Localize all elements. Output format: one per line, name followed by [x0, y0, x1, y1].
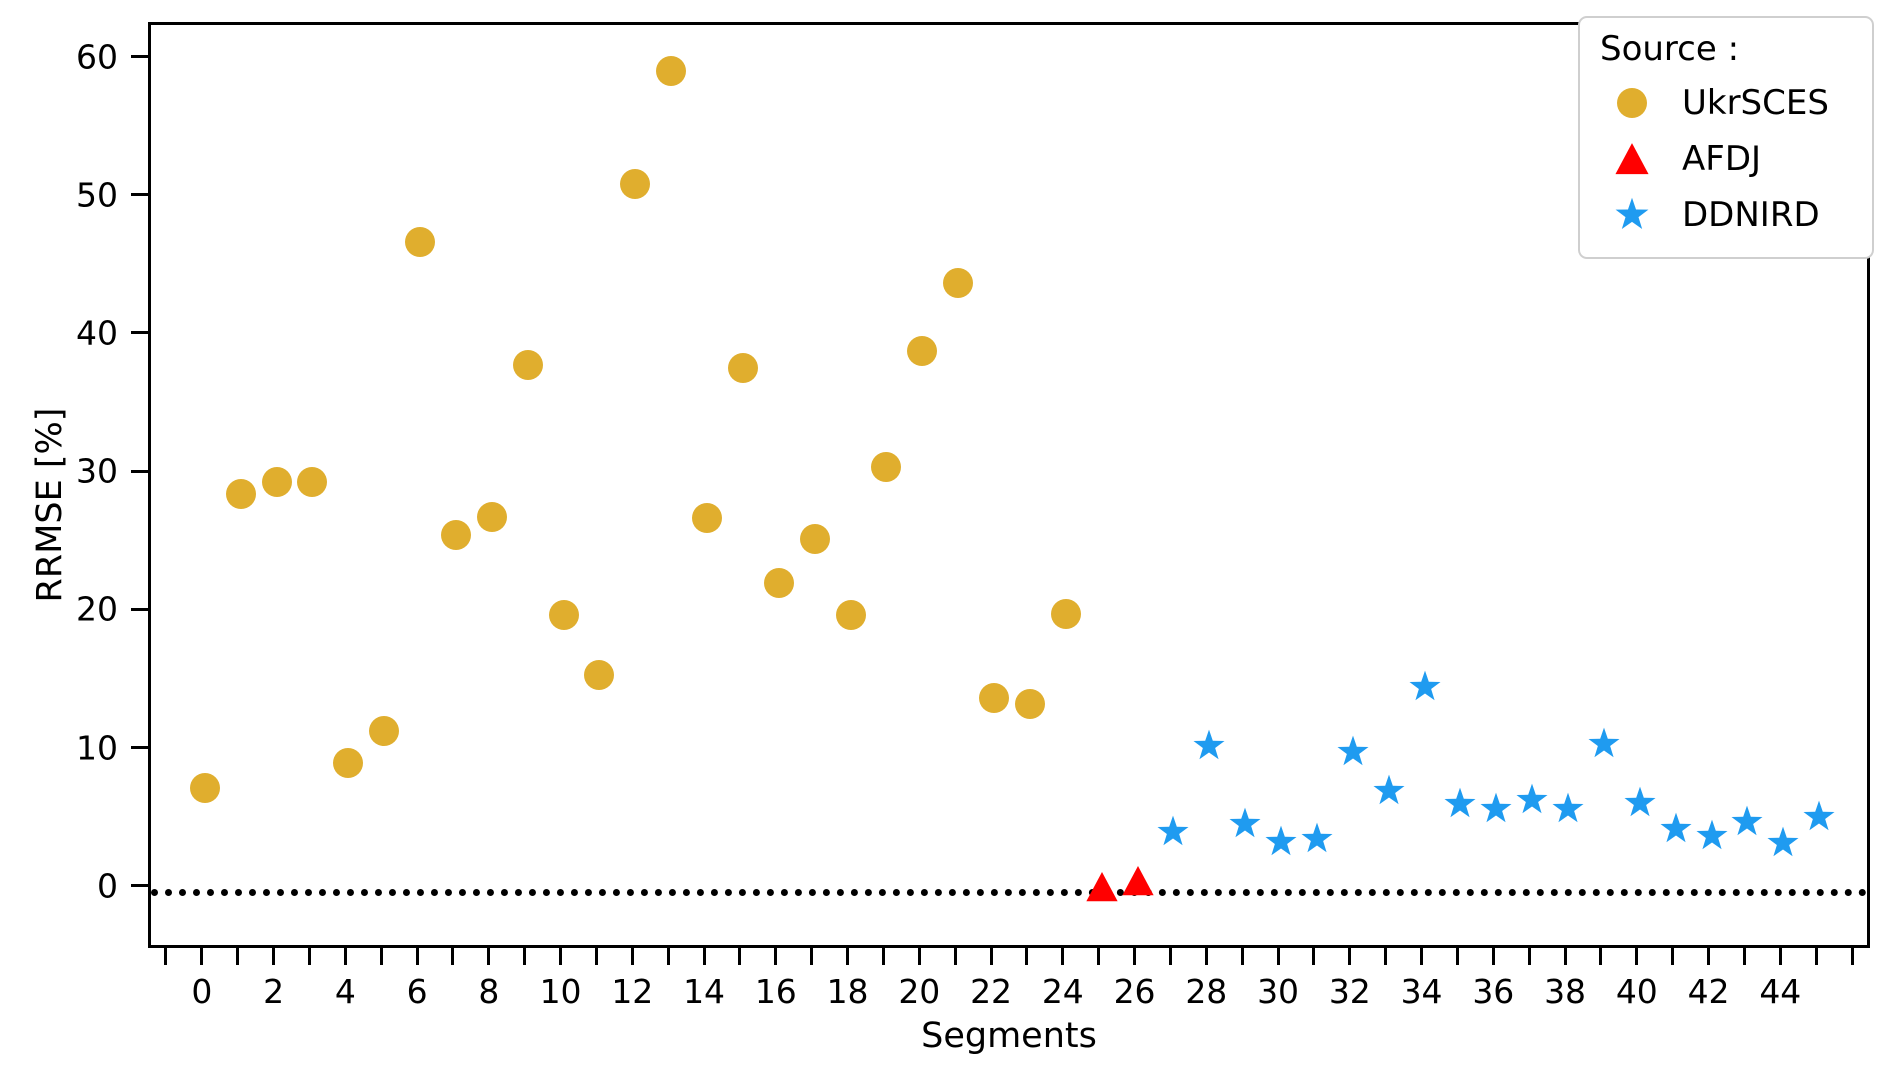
x-tick-label-16: 16	[755, 972, 797, 1011]
x-tick-26	[1133, 948, 1136, 965]
y-tick-label-10: 10	[3, 728, 118, 767]
x-tick-label-8: 8	[478, 972, 499, 1011]
data-point-ddnird	[1659, 812, 1693, 846]
x-tick-label-28: 28	[1185, 972, 1227, 1011]
data-point-ddnird	[1551, 792, 1585, 826]
x-tick-19	[882, 948, 885, 965]
data-point-ukrsces	[692, 503, 722, 533]
x-tick-13	[667, 948, 670, 965]
data-point-ddnird	[1802, 800, 1836, 834]
data-point-ddnird	[1730, 805, 1764, 839]
x-tick-41	[1671, 948, 1674, 965]
x-tick-label-34: 34	[1401, 972, 1443, 1011]
x-tick-label-26: 26	[1114, 972, 1156, 1011]
y-tick-20	[131, 608, 148, 611]
data-point-afdj	[1121, 864, 1155, 898]
data-point-ukrsces	[728, 353, 758, 383]
x-tick-0	[200, 948, 203, 965]
x-tick-label-22: 22	[970, 972, 1012, 1011]
x-tick-35	[1456, 948, 1459, 965]
x-tick-2	[272, 948, 275, 965]
data-point-ddnird	[1192, 729, 1226, 763]
x-tick-23	[1025, 948, 1028, 965]
x-tick-5	[380, 948, 383, 965]
x-tick-20	[918, 948, 921, 965]
y-tick-label-60: 60	[3, 37, 118, 76]
x-tick-43	[1743, 948, 1746, 965]
x-tick-7	[451, 948, 454, 965]
x-tick-24	[1061, 948, 1064, 965]
data-point-ddnird	[1264, 825, 1298, 859]
data-point-ddnird	[1408, 670, 1442, 704]
scatter-plot-figure: 0246810121416182022242628303234363840424…	[0, 0, 1892, 1084]
y-tick-10	[131, 746, 148, 749]
data-point-ddnird	[1156, 815, 1190, 849]
data-point-ddnird	[1443, 787, 1477, 821]
y-tick-40	[131, 331, 148, 334]
x-tick-39	[1599, 948, 1602, 965]
y-axis-label: RRMSE [%]	[30, 305, 70, 705]
data-point-ddnird	[1515, 783, 1549, 817]
x-tick-label-6: 6	[407, 972, 428, 1011]
x-tick-27	[1169, 948, 1172, 965]
x-tick-42	[1707, 948, 1710, 965]
star-icon	[1600, 197, 1664, 233]
data-point-ukrsces	[262, 467, 292, 497]
legend-entry-afdj[interactable]: AFDJ	[1600, 131, 1856, 187]
legend-title: Source :	[1600, 30, 1856, 69]
data-point-ukrsces	[297, 467, 327, 497]
x-tick-label-14: 14	[683, 972, 725, 1011]
x-tick-22	[990, 948, 993, 965]
y-tick-30	[131, 470, 148, 473]
x-tick-33	[1384, 948, 1387, 965]
x-tick-45	[1815, 948, 1818, 965]
x-tick-40	[1635, 948, 1638, 965]
legend-entries: UkrSCESAFDJDDNIRD	[1600, 75, 1856, 243]
data-point-ukrsces	[620, 169, 650, 199]
x-tick-46	[1851, 948, 1854, 965]
x-tick-label-40: 40	[1616, 972, 1658, 1011]
x-tick-9	[523, 948, 526, 965]
data-point-ukrsces	[836, 600, 866, 630]
data-point-ukrsces	[405, 227, 435, 257]
x-tick-34	[1420, 948, 1423, 965]
data-point-ddnird	[1300, 822, 1334, 856]
x-tick-label-2: 2	[263, 972, 284, 1011]
data-point-ukrsces	[477, 502, 507, 532]
x-tick-6	[416, 948, 419, 965]
x-tick-36	[1492, 948, 1495, 965]
circle-icon	[1600, 88, 1664, 118]
x-tick-29	[1241, 948, 1244, 965]
x-tick-30	[1277, 948, 1280, 965]
x-tick-label-24: 24	[1042, 972, 1084, 1011]
data-point-ukrsces	[871, 452, 901, 482]
data-point-ukrsces	[513, 350, 543, 380]
x-tick-label-32: 32	[1329, 972, 1371, 1011]
data-point-ukrsces	[226, 479, 256, 509]
x-tick-label-18: 18	[827, 972, 869, 1011]
data-point-ddnird	[1623, 786, 1657, 820]
x-tick-8	[487, 948, 490, 965]
legend-label: DDNIRD	[1664, 198, 1820, 232]
data-point-ukrsces	[333, 748, 363, 778]
y-tick-50	[131, 193, 148, 196]
x-tick-17	[810, 948, 813, 965]
x-tick-31	[1312, 948, 1315, 965]
data-point-afdj	[1085, 870, 1119, 904]
x-tick-16	[774, 948, 777, 965]
x-tick-12	[631, 948, 634, 965]
x-tick--1	[164, 948, 167, 965]
x-tick-label-0: 0	[191, 972, 212, 1011]
x-tick-label-4: 4	[335, 972, 356, 1011]
x-tick-label-36: 36	[1472, 972, 1514, 1011]
legend-entry-ddnird[interactable]: DDNIRD	[1600, 187, 1856, 243]
x-tick-label-42: 42	[1688, 972, 1730, 1011]
data-point-ddnird	[1695, 819, 1729, 853]
y-tick-label-50: 50	[3, 175, 118, 214]
data-point-ukrsces	[190, 773, 220, 803]
x-tick-label-10: 10	[540, 972, 582, 1011]
data-point-ddnird	[1336, 735, 1370, 769]
data-point-ukrsces	[584, 660, 614, 690]
x-tick-37	[1528, 948, 1531, 965]
y-tick-0	[131, 884, 148, 887]
x-axis-label: Segments	[148, 1016, 1870, 1056]
x-tick-label-38: 38	[1544, 972, 1586, 1011]
data-point-ukrsces	[800, 524, 830, 554]
x-tick-label-20: 20	[898, 972, 940, 1011]
x-tick-4	[344, 948, 347, 965]
x-tick-label-12: 12	[611, 972, 653, 1011]
legend-label: AFDJ	[1664, 142, 1761, 176]
legend-label: UkrSCES	[1664, 86, 1829, 120]
data-point-ukrsces	[764, 568, 794, 598]
data-point-ukrsces	[979, 683, 1009, 713]
x-tick-28	[1205, 948, 1208, 965]
data-point-ddnird	[1479, 792, 1513, 826]
x-tick-38	[1564, 948, 1567, 965]
data-point-ukrsces	[1015, 689, 1045, 719]
x-tick-3	[308, 948, 311, 965]
legend-entry-ukrsces[interactable]: UkrSCES	[1600, 75, 1856, 131]
data-point-ukrsces	[656, 56, 686, 86]
legend: Source : UkrSCESAFDJDDNIRD	[1578, 16, 1874, 259]
data-point-ddnird	[1766, 826, 1800, 860]
x-tick-11	[595, 948, 598, 965]
x-tick-15	[738, 948, 741, 965]
x-tick-21	[954, 948, 957, 965]
data-point-ukrsces	[369, 716, 399, 746]
data-point-ukrsces	[1051, 599, 1081, 629]
x-tick-1	[236, 948, 239, 965]
data-point-ukrsces	[943, 268, 973, 298]
data-point-ddnird	[1372, 774, 1406, 808]
data-point-ukrsces	[907, 336, 937, 366]
x-tick-10	[559, 948, 562, 965]
x-tick-44	[1779, 948, 1782, 965]
x-tick-label-30: 30	[1257, 972, 1299, 1011]
x-tick-25	[1097, 948, 1100, 965]
y-tick-label-0: 0	[3, 866, 118, 905]
data-point-ddnird	[1228, 807, 1262, 841]
triangle-icon	[1600, 141, 1664, 177]
data-point-ddnird	[1587, 727, 1621, 761]
x-tick-32	[1348, 948, 1351, 965]
x-tick-18	[846, 948, 849, 965]
x-tick-14	[703, 948, 706, 965]
y-tick-60	[131, 55, 148, 58]
x-tick-label-44: 44	[1759, 972, 1801, 1011]
data-point-ukrsces	[549, 600, 579, 630]
data-point-ukrsces	[441, 520, 471, 550]
